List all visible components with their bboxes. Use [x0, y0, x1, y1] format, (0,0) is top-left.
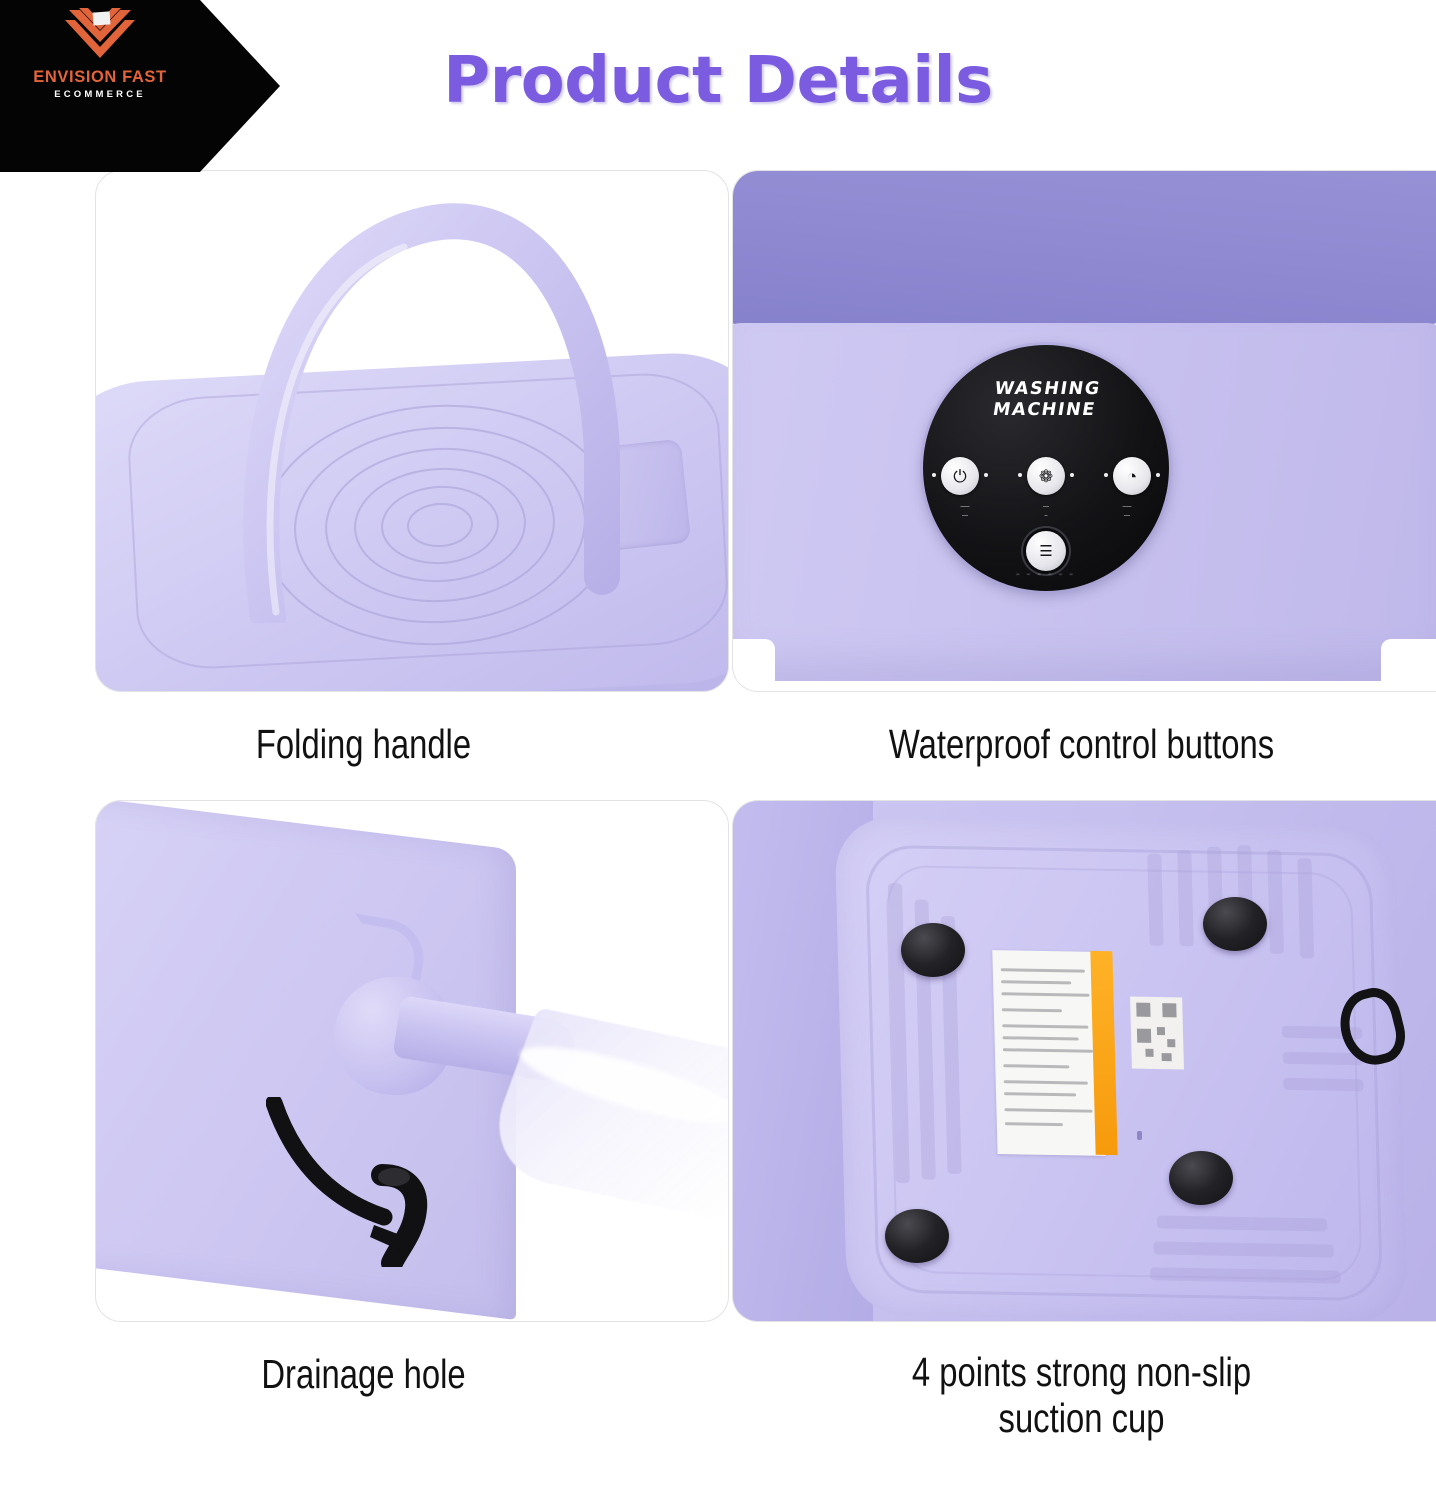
envision-fast-chevron-logo-icon [63, 6, 137, 64]
control-panel[interactable]: WASHING MACHINE ⏻ ❁ ◔ ⎯⎯⎯⎯⎯ ⎯⎯⎯ ⎯⎯⎯⎯⎯ [923, 345, 1169, 591]
wash-mode-glyph: ❁ [1039, 468, 1053, 485]
drainage-hole-photo [95, 800, 729, 1322]
machine-lid [732, 170, 1436, 325]
caption-drainage-hole: Drainage hole [73, 1352, 655, 1398]
base-inner-groove-2 [885, 865, 1362, 1281]
start-glyph: ☰ [1039, 542, 1052, 560]
control-buttons-photo: WASHING MACHINE ⏻ ❁ ◔ ⎯⎯⎯⎯⎯ ⎯⎯⎯ ⎯⎯⎯⎯⎯ [732, 170, 1436, 692]
detail-cell-suction-cup: 4 points strong non-slip suction cup [727, 800, 1436, 1500]
caption-control-buttons: Waterproof control buttons [798, 722, 1365, 768]
start-icon[interactable]: ☰ [1026, 531, 1066, 571]
power-glyph: ⏻ [953, 468, 966, 485]
control-button-row: ⏻ ❁ ◔ [941, 457, 1151, 495]
caption-folding-handle: Folding handle [73, 722, 655, 768]
folding-carry-handle [204, 170, 634, 623]
suction-cup-bottom-right [1169, 1151, 1233, 1205]
brand-name: ENVISION FAST [33, 69, 166, 86]
product-details-grid: Folding handle WASHING MACHINE ⏻ ❁ ◔ [0, 170, 1436, 1500]
brand-tagline: ECOMMERCE [54, 90, 146, 100]
detail-cell-folding-handle: Folding handle [0, 170, 727, 800]
brand-lockup: ENVISION FAST ECOMMERCE [0, 6, 200, 99]
spin-dry-icon[interactable]: ◔ [1113, 457, 1151, 495]
spin-dry-glyph: ◔ [1127, 468, 1137, 485]
control-panel-title: WASHING MACHINE [923, 379, 1169, 420]
suction-cup-top-right [1203, 897, 1267, 951]
black-drain-hose [266, 1097, 466, 1267]
button-label-3: ⎯⎯⎯⎯⎯ [1095, 503, 1159, 521]
base-vent-hole [1137, 1131, 1142, 1140]
button-label-2: ⎯⎯⎯ [1014, 503, 1078, 521]
control-button-labels: ⎯⎯⎯⎯⎯ ⎯⎯⎯ ⎯⎯⎯⎯⎯ [933, 503, 1159, 521]
button-label-1: ⎯⎯⎯⎯⎯ [933, 503, 997, 521]
body-foot-notch-left [732, 639, 775, 685]
suction-cup-bottom-left [885, 1209, 949, 1263]
control-panel-arc-label: ⎯ ⎯ ⎯ ⎯ ⎯ ⎯ [923, 572, 1169, 579]
wash-mode-icon[interactable]: ❁ [1027, 457, 1065, 495]
caption-suction-cup: 4 points strong non-slip suction cup [798, 1350, 1365, 1442]
product-label [992, 950, 1105, 1156]
detail-cell-control-buttons: WASHING MACHINE ⏻ ❁ ◔ ⎯⎯⎯⎯⎯ ⎯⎯⎯ ⎯⎯⎯⎯⎯ [727, 170, 1436, 800]
folding-handle-photo [95, 170, 729, 692]
power-icon[interactable]: ⏻ [941, 457, 979, 495]
detail-cell-drainage-hole: Drainage hole [0, 800, 727, 1500]
suction-cup-top-left [901, 923, 965, 977]
qr-code-label [1130, 997, 1184, 1070]
suction-cup-photo [732, 800, 1436, 1322]
body-foot-notch-right [1381, 639, 1436, 685]
brand-banner: ENVISION FAST ECOMMERCE [0, 0, 280, 173]
